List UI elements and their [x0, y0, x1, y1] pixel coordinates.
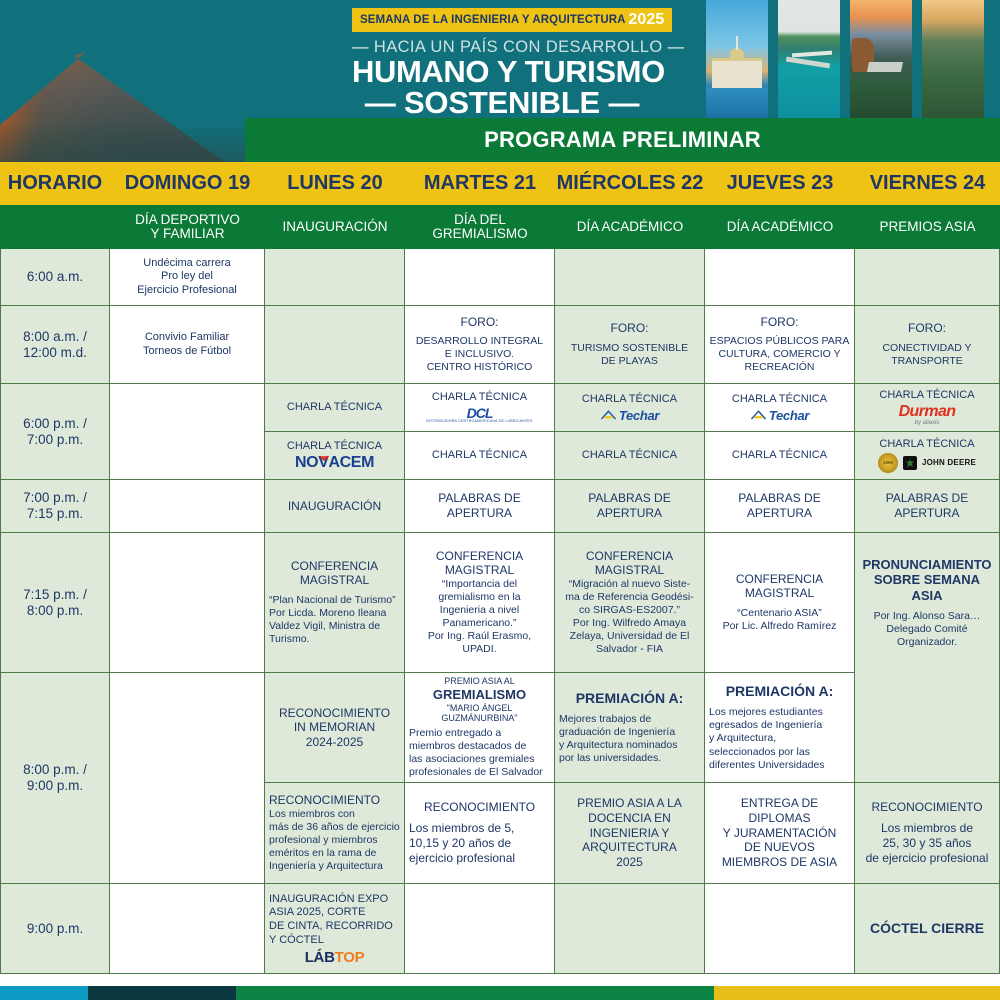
cell-mar-6am	[405, 249, 555, 306]
mountain-sunset-photo	[850, 0, 912, 122]
table-row: 7:15 p.m. /8:00 p.m. CONFERENCIAMAGISTRA…	[0, 533, 1000, 673]
cell-vie-8pm-b: RECONOCIMIENTO Los miembros de25, 30 y 3…	[855, 783, 1000, 884]
conf-title: CONFERENCIAMAGISTRAL	[736, 572, 823, 601]
cell-mar-8pm-b: RECONOCIMIENTO Los miembros de 5,10,15 y…	[405, 783, 555, 884]
conf-text: “Migración al nuevo Siste-ma de Referenc…	[559, 578, 700, 657]
cell-mie-9pm	[555, 884, 705, 974]
john-deere-wordmark: JOHN DEERE	[922, 459, 976, 467]
bottom-color-bar	[0, 986, 1000, 1000]
day-header-3: MARTES 21	[405, 162, 555, 205]
time-label: 6:00 a.m.	[0, 249, 110, 306]
cell-mie-charla-2: CHARLA TÉCNICA	[555, 432, 705, 480]
theme-header-5: DÍA ACADÉMICO	[705, 205, 855, 249]
conf-title: CONFERENCIAMAGISTRAL	[291, 559, 378, 588]
cell-vie-6am	[855, 249, 1000, 306]
anniversary-seal-icon: 1865	[878, 453, 898, 473]
port-photo	[778, 0, 840, 122]
novacem-logo: NOVACEM	[295, 455, 374, 471]
expo-text: INAUGURACIÓN EXPOASIA 2025, CORTEDE CINT…	[269, 893, 400, 948]
dcl-tagline: DISTRIBUIDORA CENTROAMERICANA DE LUBRICA…	[426, 420, 532, 424]
theme-column-spacer	[0, 205, 110, 249]
techar-logo: Techar	[600, 409, 659, 422]
time-label: 6:00 p.m. /7:00 p.m.	[0, 384, 110, 480]
deer-icon	[903, 456, 917, 470]
charla-label: CHARLA TÉCNICA	[582, 393, 677, 406]
theme-header-4: DÍA ACADÉMICO	[555, 205, 705, 249]
cell-mie-8pm-b: PREMIO ASIA A LADOCENCIA ENINGENIERIA YA…	[555, 783, 705, 884]
pronunciamiento-text: Por Ing. Alonso Sara…Delegado ComitéOrga…	[859, 610, 995, 649]
cell-lun-9pm: INAUGURACIÓN EXPOASIA 2025, CORTEDE CINT…	[265, 884, 405, 974]
conf-text: “Plan Nacional de Turismo”Por Licda. Mor…	[269, 594, 400, 647]
time-label: 7:15 p.m. /8:00 p.m.	[0, 533, 110, 673]
photo-strip	[700, 0, 1000, 122]
cell-dom-7pm	[110, 480, 265, 533]
foro-title: FORO:	[908, 321, 946, 336]
table-row: 6:00 a.m. Undécima carreraPro ley delEje…	[0, 249, 1000, 306]
durman-tagline: by aliaxis	[899, 420, 956, 426]
cell-lun-charla-2: CHARLA TÉCNICA NOVACEM	[265, 432, 405, 480]
dash-right-2-icon: —	[608, 85, 639, 120]
cell-dom-6pm	[110, 384, 265, 480]
john-deere-logo: 1865 JOHN DEERE	[878, 453, 976, 473]
bottom-bar-cyan	[0, 986, 88, 1000]
foro-text: DESARROLLO INTEGRALE INCLUSIVO.CENTRO HI…	[409, 335, 550, 374]
premio-text: Premio entregado amiembros destacados de…	[409, 727, 550, 780]
conf-text: “Importancia delgremialismo en laIngenie…	[409, 578, 550, 657]
reconocimiento-title: RECONOCIMIENTO	[871, 800, 982, 815]
table-row: 9:00 p.m. INAUGURACIÓN EXPOASIA 2025, CO…	[0, 884, 1000, 974]
cell-mar-8am: FORO: DESARROLLO INTEGRALE INCLUSIVO.CEN…	[405, 306, 555, 384]
cell-lun-charla-1: CHARLA TÉCNICA	[265, 384, 405, 432]
techar-wordmark: Techar	[769, 409, 809, 422]
premio-title: GREMIALISMO	[433, 687, 526, 703]
kicker-text: SEMANA DE LA INGENIERIA Y ARQUITECTURA	[360, 14, 625, 26]
bottom-bar-yellow	[714, 986, 1000, 1000]
theme-header-3: DÍA DELGREMIALISMO	[405, 205, 555, 249]
cell-mie-8am: FORO: TURISMO SOSTENIBLEDE PLAYAS	[555, 306, 705, 384]
dcl-logo: DCL DISTRIBUIDORA CENTROAMERICANA DE LUB…	[426, 406, 532, 424]
cell-dom-715pm	[110, 533, 265, 673]
premio-quote: "MARIO ÁNGEL GUZMÁNURBINA"	[409, 703, 550, 725]
dash-left-2-icon: —	[365, 85, 396, 120]
table-row: 7:00 p.m. /7:15 p.m. INAUGURACIÓN PALABR…	[0, 480, 1000, 533]
title-line2-text: SOSTENIBLE	[404, 85, 600, 120]
day-header-4: MIÉRCOLES 22	[555, 162, 705, 205]
day-header-1: DOMINGO 19	[110, 162, 265, 205]
cell-vie-715pm: PRONUNCIAMIENTOSOBRE SEMANAASIA Por Ing.…	[855, 533, 1000, 673]
cell-lun-8am	[265, 306, 405, 384]
pronunciamiento-title: PRONUNCIAMIENTOSOBRE SEMANAASIA	[862, 557, 991, 605]
premio-docencia-title: PREMIO ASIA A LADOCENCIA ENINGENIERIA YA…	[577, 796, 682, 869]
cell-mie-715pm: CONFERENCIAMAGISTRAL “Migración al nuevo…	[555, 533, 705, 673]
event-kicker: SEMANA DE LA INGENIERIA Y ARQUITECTURA 2…	[352, 8, 672, 32]
reconocimiento-title: RECONOCIMIENTOIN MEMORIAN2024-2025	[279, 706, 390, 750]
techar-logo-2: Techar	[750, 409, 809, 422]
bottom-bar-green	[236, 986, 714, 1000]
cell-vie-charla-2: CHARLA TÉCNICA 1865 JOHN DEERE	[855, 432, 1000, 480]
kicker-year: 2025	[628, 11, 664, 28]
techar-wordmark: Techar	[619, 409, 659, 422]
premiacion-title: PREMIACIÓN A:	[726, 683, 834, 700]
cell-jue-charla-2: CHARLA TÉCNICA	[705, 432, 855, 480]
day-header-2: LUNES 20	[265, 162, 405, 205]
volcano-photo	[0, 0, 245, 162]
labtop-logo: LÁBTOP	[305, 950, 365, 965]
theme-header-1: DÍA DEPORTIVOY FAMILIAR	[110, 205, 265, 249]
program-bar: PROGRAMA PRELIMINAR	[245, 118, 1000, 162]
cell-mar-7pm: PALABRAS DEAPERTURA	[405, 480, 555, 533]
time-label: 9:00 p.m.	[0, 884, 110, 974]
labtop-wordmark-b: TOP	[335, 949, 365, 966]
premiacion-title: PREMIACIÓN A:	[576, 690, 684, 707]
cell-vie-8pm-a	[855, 673, 1000, 783]
foro-title: FORO:	[761, 315, 799, 330]
time-label: 8:00 p.m. /9:00 p.m.	[0, 673, 110, 884]
foro-title: FORO:	[611, 321, 649, 336]
charla-label: CHARLA TÉCNICA	[879, 389, 974, 402]
dash-right-icon: —	[668, 38, 685, 56]
landscape-photo	[922, 0, 984, 122]
cell-jue-8am: FORO: ESPACIOS PÚBLICOS PARACULTURA, COM…	[705, 306, 855, 384]
charla-label: CHARLA TÉCNICA	[432, 391, 527, 404]
charla-label: CHARLA TÉCNICA	[879, 438, 974, 451]
table-row: 8:00 a.m. /12:00 m.d. Convivio FamiliarT…	[0, 306, 1000, 384]
roof-icon	[600, 409, 617, 422]
premiacion-text: Mejores trabajos degraduación de Ingenie…	[559, 713, 700, 766]
premiacion-text: Los mejores estudiantesegresados de Inge…	[709, 706, 850, 772]
cell-jue-7pm: PALABRAS DEAPERTURA	[705, 480, 855, 533]
cell-mar-9pm	[405, 884, 555, 974]
cell-lun-715pm: CONFERENCIAMAGISTRAL “Plan Nacional de T…	[265, 533, 405, 673]
charla-label: CHARLA TÉCNICA	[287, 440, 382, 453]
cell-lun-8pm-a: RECONOCIMIENTOIN MEMORIAN2024-2025	[265, 673, 405, 783]
diplomas-title: ENTREGA DE DIPLOMASY JURAMENTACIÓNDE NUE…	[709, 796, 850, 869]
event-title-line1: HUMANO Y TURISMO	[352, 57, 652, 87]
charla-label: CHARLA TÉCNICA	[732, 393, 827, 406]
day-header-6: VIERNES 24	[855, 162, 1000, 205]
cell-dom-9pm	[110, 884, 265, 974]
foro-text: ESPACIOS PÚBLICOS PARACULTURA, COMERCIO …	[709, 335, 850, 374]
reconocimiento-text: Los miembros de 5,10,15 y 20 años deejer…	[409, 821, 550, 866]
cell-mie-8pm-a: PREMIACIÓN A: Mejores trabajos degraduac…	[555, 673, 705, 783]
foro-text: TURISMO SOSTENIBLEDE PLAYAS	[559, 342, 700, 368]
cell-jue-9pm	[705, 884, 855, 974]
cell-vie-charla-1: CHARLA TÉCNICA Durman by aliaxis	[855, 384, 1000, 432]
table-row: 8:00 p.m. /9:00 p.m. RECONOCIMIENTOIN ME…	[0, 673, 1000, 884]
schedule-table: 6:00 a.m. Undécima carreraPro ley delEje…	[0, 249, 1000, 978]
cell-mie-6am	[555, 249, 705, 306]
cell-jue-6am	[705, 249, 855, 306]
cell-lun-6am	[265, 249, 405, 306]
conf-title: CONFERENCIAMAGISTRAL	[436, 549, 523, 578]
time-column-header: HORARIO	[0, 162, 110, 205]
cell-dom-8pm	[110, 673, 265, 884]
time-label: 8:00 a.m. /12:00 m.d.	[0, 306, 110, 384]
conf-text: “Centenario ASIA”Por Lic. Alfredo Ramíre…	[709, 607, 850, 633]
cell-mar-charla-2: CHARLA TÉCNICA	[405, 432, 555, 480]
cell-jue-8pm-b: ENTREGA DE DIPLOMASY JURAMENTACIÓNDE NUE…	[705, 783, 855, 884]
cell-dom-8am: Convivio FamiliarTorneos de Fútbol	[110, 306, 265, 384]
reconocimiento-text: Los miembros conmás de 36 años de ejerci…	[269, 808, 400, 874]
event-title-line2: — SOSTENIBLE —	[352, 87, 652, 119]
cell-mar-8pm-a: PREMIO ASIA AL GREMIALISMO "MARIO ÁNGEL …	[405, 673, 555, 783]
cell-mar-charla-1: CHARLA TÉCNICA DCL DISTRIBUIDORA CENTROA…	[405, 384, 555, 432]
labtop-wordmark-a: LÁB	[305, 949, 335, 966]
theme-header-2: INAUGURACIÓN	[265, 205, 405, 249]
cell-mie-7pm: PALABRAS DEAPERTURA	[555, 480, 705, 533]
time-label: 7:00 p.m. /7:15 p.m.	[0, 480, 110, 533]
cell-jue-charla-1: CHARLA TÉCNICA Techar	[705, 384, 855, 432]
coctel-cierre-label: CÓCTEL CIERRE	[870, 920, 984, 937]
palace-photo	[706, 0, 768, 122]
reconocimiento-title: RECONOCIMIENTO	[424, 800, 535, 815]
reconocimiento-title: RECONOCIMIENTO	[269, 793, 380, 808]
cell-vie-7pm: PALABRAS DEAPERTURA	[855, 480, 1000, 533]
table-row: 6:00 p.m. /7:00 p.m. CHARLA TÉCNICA CHAR…	[0, 384, 1000, 480]
theme-header-6: PREMIOS ASIA	[855, 205, 1000, 249]
day-header-5: JUEVES 23	[705, 162, 855, 205]
poster-root: SEMANA DE LA INGENIERIA Y ARQUITECTURA 2…	[0, 0, 1000, 1000]
foro-title: FORO:	[461, 315, 499, 330]
theme-header-row: DÍA DEPORTIVOY FAMILIARINAUGURACIÓNDÍA D…	[0, 205, 1000, 249]
reconocimiento-text: Los miembros de25, 30 y 35 añosde ejerci…	[859, 821, 995, 866]
cell-lun-7pm: INAUGURACIÓN	[265, 480, 405, 533]
cell-lun-8pm-b: RECONOCIMIENTO Los miembros conmás de 36…	[265, 783, 405, 884]
premio-eyebrow: PREMIO ASIA AL	[444, 676, 515, 687]
cell-mie-charla-1: CHARLA TÉCNICA Techar	[555, 384, 705, 432]
durman-wordmark: Durman	[899, 404, 956, 420]
bottom-bar-dark-teal	[88, 986, 236, 1000]
day-header-row: HORARIODOMINGO 19LUNES 20MARTES 21MIÉRCO…	[0, 162, 1000, 205]
dcl-wordmark: DCL	[426, 406, 532, 420]
cell-vie-9pm: CÓCTEL CIERRE	[855, 884, 1000, 974]
cell-jue-8pm-a: PREMIACIÓN A: Los mejores estudiantesegr…	[705, 673, 855, 783]
roof-icon	[750, 409, 767, 422]
header-banner: SEMANA DE LA INGENIERIA Y ARQUITECTURA 2…	[0, 0, 1000, 162]
cell-jue-715pm: CONFERENCIAMAGISTRAL “Centenario ASIA”Po…	[705, 533, 855, 673]
cell-vie-8am: FORO: CONECTIVIDAD YTRANSPORTE	[855, 306, 1000, 384]
foro-text: CONECTIVIDAD YTRANSPORTE	[859, 342, 995, 368]
durman-logo: Durman by aliaxis	[899, 404, 956, 426]
conf-title: CONFERENCIAMAGISTRAL	[586, 549, 673, 578]
cell-dom-6am: Undécima carreraPro ley delEjercicio Pro…	[110, 249, 265, 306]
cell-mar-715pm: CONFERENCIAMAGISTRAL “Importancia delgre…	[405, 533, 555, 673]
